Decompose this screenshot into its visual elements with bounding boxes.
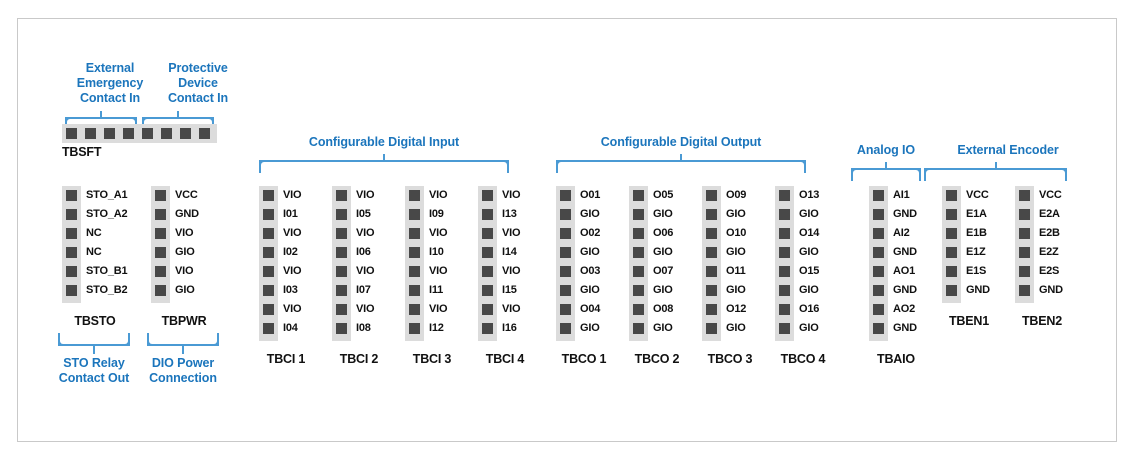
terminal-label: STO_A1 xyxy=(86,190,127,201)
terminal-pin[interactable] xyxy=(161,128,172,139)
terminal-label: I13 xyxy=(502,209,517,220)
terminal-pin[interactable] xyxy=(1019,190,1030,201)
terminal-pin[interactable] xyxy=(409,285,420,296)
terminal-pin[interactable] xyxy=(633,266,644,277)
terminal-label: E1Z xyxy=(966,247,986,258)
terminal-pin[interactable] xyxy=(560,323,571,334)
terminal-pin[interactable] xyxy=(66,228,77,239)
terminal-pin[interactable] xyxy=(336,247,347,258)
terminal-label: E2A xyxy=(1039,209,1060,220)
terminal-pin[interactable] xyxy=(1019,228,1030,239)
terminal-label: GIO xyxy=(653,247,673,258)
terminal-pin[interactable] xyxy=(155,209,166,220)
terminal-pin[interactable] xyxy=(263,190,274,201)
terminal-pin[interactable] xyxy=(336,228,347,239)
terminal-label: GIO xyxy=(175,247,195,258)
caption-configurable-digital-input: Configurable Digital Input xyxy=(239,135,529,150)
terminal-label: O14 xyxy=(799,228,819,239)
terminal-label: AO2 xyxy=(893,304,915,315)
terminal-pin[interactable] xyxy=(946,228,957,239)
terminal-label: GIO xyxy=(799,323,819,334)
terminal-label: E2S xyxy=(1039,266,1059,277)
terminal-pin[interactable] xyxy=(873,190,884,201)
terminal-pin[interactable] xyxy=(633,190,644,201)
terminal-pin[interactable] xyxy=(873,228,884,239)
terminal-label: O09 xyxy=(726,190,746,201)
terminal-label: VIO xyxy=(283,190,301,201)
terminal-label: GND xyxy=(893,285,917,296)
terminal-pin[interactable] xyxy=(560,209,571,220)
terminal-label: I07 xyxy=(356,285,371,296)
terminal-pin[interactable] xyxy=(66,285,77,296)
terminal-label: O05 xyxy=(653,190,673,201)
terminal-label: E1B xyxy=(966,228,987,239)
terminal-pin[interactable] xyxy=(946,247,957,258)
terminal-label: VIO xyxy=(429,228,447,239)
block-name-tbci-2: TBCI 2 xyxy=(319,352,399,366)
terminal-pin[interactable] xyxy=(263,304,274,315)
terminal-pin[interactable] xyxy=(946,190,957,201)
terminal-pin[interactable] xyxy=(560,228,571,239)
terminal-label: I03 xyxy=(283,285,298,296)
terminal-pin[interactable] xyxy=(66,128,77,139)
terminal-label: I09 xyxy=(429,209,444,220)
terminal-pin[interactable] xyxy=(85,128,96,139)
terminal-pin[interactable] xyxy=(560,190,571,201)
terminal-pin[interactable] xyxy=(263,266,274,277)
terminal-pin[interactable] xyxy=(779,266,790,277)
terminal-label: E1S xyxy=(966,266,986,277)
terminal-pin[interactable] xyxy=(409,209,420,220)
terminal-pin[interactable] xyxy=(1019,285,1030,296)
terminal-label: GIO xyxy=(580,285,600,296)
terminal-pin[interactable] xyxy=(633,304,644,315)
terminal-pin[interactable] xyxy=(560,285,571,296)
terminal-label: GIO xyxy=(799,285,819,296)
terminal-pin[interactable] xyxy=(409,304,420,315)
terminal-pin[interactable] xyxy=(946,285,957,296)
terminal-label: VCC xyxy=(1039,190,1062,201)
terminal-label: I16 xyxy=(502,323,517,334)
terminal-label: O12 xyxy=(726,304,746,315)
terminal-pin[interactable] xyxy=(155,247,166,258)
terminal-pin[interactable] xyxy=(155,266,166,277)
terminal-pin[interactable] xyxy=(482,285,493,296)
caption-external-encoder: External Encoder xyxy=(923,143,1093,158)
terminal-label: NC xyxy=(86,228,102,239)
terminal-label: I12 xyxy=(429,323,444,334)
terminal-label: GND xyxy=(1039,285,1063,296)
block-name-tbci-4: TBCI 4 xyxy=(465,352,545,366)
block-name-tbco-2: TBCO 2 xyxy=(615,352,699,366)
diagram-root: ExternalEmergencyContact In ProtectiveDe… xyxy=(0,0,1134,464)
terminal-pin[interactable] xyxy=(123,128,134,139)
terminal-pin[interactable] xyxy=(706,228,717,239)
terminal-pin[interactable] xyxy=(873,266,884,277)
terminal-label: O15 xyxy=(799,266,819,277)
terminal-pin[interactable] xyxy=(199,128,210,139)
block-name-tbci-3: TBCI 3 xyxy=(392,352,472,366)
terminal-pin[interactable] xyxy=(263,285,274,296)
terminal-pin[interactable] xyxy=(263,228,274,239)
terminal-pin[interactable] xyxy=(633,228,644,239)
terminal-label: VIO xyxy=(429,266,447,277)
terminal-label: GIO xyxy=(726,323,746,334)
terminal-label: VIO xyxy=(502,228,520,239)
terminal-pin[interactable] xyxy=(409,228,420,239)
terminal-pin[interactable] xyxy=(409,323,420,334)
terminal-pin[interactable] xyxy=(633,323,644,334)
terminal-label: GND xyxy=(893,209,917,220)
terminal-pin[interactable] xyxy=(779,228,790,239)
terminal-label: VIO xyxy=(283,228,301,239)
terminal-pin[interactable] xyxy=(1019,209,1030,220)
caption-analog-io: Analog IO xyxy=(836,143,936,158)
terminal-label: GIO xyxy=(653,209,673,220)
terminal-pin[interactable] xyxy=(482,209,493,220)
terminal-pin[interactable] xyxy=(706,304,717,315)
terminal-pin[interactable] xyxy=(66,247,77,258)
terminal-label: VIO xyxy=(283,266,301,277)
terminal-pin[interactable] xyxy=(779,247,790,258)
terminal-pin[interactable] xyxy=(873,247,884,258)
terminal-pin[interactable] xyxy=(633,285,644,296)
terminal-label: STO_B2 xyxy=(86,285,127,296)
terminal-pin[interactable] xyxy=(946,209,957,220)
terminal-label: VIO xyxy=(356,190,374,201)
terminal-label: E2Z xyxy=(1039,247,1059,258)
terminal-label: I14 xyxy=(502,247,517,258)
caption-protective-device-contact-in: ProtectiveDeviceContact In xyxy=(153,61,243,106)
terminal-pin[interactable] xyxy=(706,285,717,296)
caption-sto-relay-contact-out: STO RelayContact Out xyxy=(48,356,140,386)
terminal-label: GIO xyxy=(726,247,746,258)
terminal-pin[interactable] xyxy=(336,266,347,277)
terminal-pin[interactable] xyxy=(706,323,717,334)
block-name-tbco-4: TBCO 4 xyxy=(761,352,845,366)
terminal-pin[interactable] xyxy=(560,304,571,315)
terminal-pin[interactable] xyxy=(263,209,274,220)
terminal-label: I08 xyxy=(356,323,371,334)
terminal-label: O11 xyxy=(726,266,746,277)
terminal-label: GIO xyxy=(799,209,819,220)
terminal-pin[interactable] xyxy=(336,323,347,334)
diagram-panel: ExternalEmergencyContact In ProtectiveDe… xyxy=(17,18,1117,442)
terminal-pin[interactable] xyxy=(336,209,347,220)
terminal-pin[interactable] xyxy=(560,247,571,258)
terminal-pin[interactable] xyxy=(779,285,790,296)
terminal-label: GND xyxy=(893,323,917,334)
terminal-label: O03 xyxy=(580,266,600,277)
terminal-label: VIO xyxy=(502,304,520,315)
terminal-label: GIO xyxy=(653,323,673,334)
terminal-pin[interactable] xyxy=(336,190,347,201)
terminal-label: O16 xyxy=(799,304,819,315)
terminal-pin[interactable] xyxy=(873,304,884,315)
terminal-label: I05 xyxy=(356,209,371,220)
terminal-label: GIO xyxy=(580,247,600,258)
terminal-pin[interactable] xyxy=(263,323,274,334)
terminal-label: GIO xyxy=(175,285,195,296)
terminal-pin[interactable] xyxy=(873,323,884,334)
terminal-label: AO1 xyxy=(893,266,915,277)
caption-configurable-digital-output: Configurable Digital Output xyxy=(536,135,826,150)
terminal-pin[interactable] xyxy=(633,209,644,220)
terminal-label: NC xyxy=(86,247,102,258)
terminal-label: VIO xyxy=(175,266,193,277)
terminal-pin[interactable] xyxy=(873,285,884,296)
terminal-pin[interactable] xyxy=(336,285,347,296)
terminal-pin[interactable] xyxy=(706,247,717,258)
caption-dio-power-connection: DIO PowerConnection xyxy=(137,356,229,386)
terminal-label: O06 xyxy=(653,228,673,239)
terminal-pin[interactable] xyxy=(946,266,957,277)
terminal-pin[interactable] xyxy=(180,128,191,139)
terminal-pin[interactable] xyxy=(779,304,790,315)
terminal-pin[interactable] xyxy=(482,190,493,201)
terminal-label: GIO xyxy=(580,323,600,334)
terminal-label: VCC xyxy=(175,190,198,201)
terminal-label: O08 xyxy=(653,304,673,315)
terminal-label: VIO xyxy=(356,228,374,239)
terminal-pin[interactable] xyxy=(560,266,571,277)
terminal-pin[interactable] xyxy=(482,228,493,239)
terminal-label: O04 xyxy=(580,304,600,315)
terminal-label: AI2 xyxy=(893,228,910,239)
terminal-label: E2B xyxy=(1039,228,1060,239)
terminal-pin[interactable] xyxy=(409,266,420,277)
terminal-label: VIO xyxy=(356,304,374,315)
terminal-label: VIO xyxy=(429,190,447,201)
terminal-label: GND xyxy=(893,247,917,258)
terminal-label: VCC xyxy=(966,190,989,201)
terminal-pin[interactable] xyxy=(482,323,493,334)
terminal-label: STO_A2 xyxy=(86,209,127,220)
block-name-tbaio: TBAIO xyxy=(856,352,936,366)
terminal-label: GND xyxy=(175,209,199,220)
terminal-label: VIO xyxy=(356,266,374,277)
terminal-block-tbsft[interactable] xyxy=(62,124,217,143)
terminal-label: O10 xyxy=(726,228,746,239)
terminal-pin[interactable] xyxy=(336,304,347,315)
terminal-label: GIO xyxy=(726,209,746,220)
terminal-label: I11 xyxy=(429,285,443,296)
terminal-pin[interactable] xyxy=(706,190,717,201)
terminal-label: I10 xyxy=(429,247,444,258)
block-name-tbpwr: TBPWR xyxy=(139,314,229,328)
block-name-tben1: TBEN1 xyxy=(929,314,1009,328)
terminal-pin[interactable] xyxy=(779,209,790,220)
terminal-label: O07 xyxy=(653,266,673,277)
terminal-pin[interactable] xyxy=(409,190,420,201)
terminal-label: I15 xyxy=(502,285,517,296)
terminal-label: O02 xyxy=(580,228,600,239)
terminal-label: E1A xyxy=(966,209,987,220)
terminal-pin[interactable] xyxy=(155,285,166,296)
terminal-pin[interactable] xyxy=(482,266,493,277)
bracket-sto-relay xyxy=(58,333,130,354)
bracket-dio-power xyxy=(147,333,219,354)
terminal-pin[interactable] xyxy=(155,190,166,201)
terminal-label: GIO xyxy=(653,285,673,296)
block-name-tben2: TBEN2 xyxy=(1002,314,1082,328)
terminal-pin[interactable] xyxy=(633,247,644,258)
terminal-pin[interactable] xyxy=(873,209,884,220)
terminal-label: I01 xyxy=(283,209,298,220)
caption-external-emergency-contact-in: ExternalEmergencyContact In xyxy=(65,61,155,106)
terminal-label: VIO xyxy=(502,190,520,201)
terminal-label: O01 xyxy=(580,190,600,201)
terminal-label: VIO xyxy=(502,266,520,277)
terminal-pin[interactable] xyxy=(263,247,274,258)
terminal-label: O13 xyxy=(799,190,819,201)
terminal-pin[interactable] xyxy=(104,128,115,139)
block-name-tbci-1: TBCI 1 xyxy=(246,352,326,366)
terminal-pin[interactable] xyxy=(706,266,717,277)
terminal-pin[interactable] xyxy=(66,209,77,220)
block-name-tbco-3: TBCO 3 xyxy=(688,352,772,366)
terminal-pin[interactable] xyxy=(66,190,77,201)
terminal-label: GIO xyxy=(799,247,819,258)
terminal-pin[interactable] xyxy=(779,323,790,334)
terminal-label: VIO xyxy=(175,228,193,239)
terminal-pin[interactable] xyxy=(1019,266,1030,277)
terminal-label: I06 xyxy=(356,247,371,258)
block-name-tbco-1: TBCO 1 xyxy=(542,352,626,366)
terminal-label: VIO xyxy=(283,304,301,315)
terminal-label: I04 xyxy=(283,323,298,334)
terminal-pin[interactable] xyxy=(706,209,717,220)
terminal-pin[interactable] xyxy=(409,247,420,258)
terminal-label: STO_B1 xyxy=(86,266,127,277)
terminal-label: AI1 xyxy=(893,190,910,201)
terminal-label: GND xyxy=(966,285,990,296)
terminal-pin[interactable] xyxy=(142,128,153,139)
terminal-pin[interactable] xyxy=(66,266,77,277)
terminal-pin[interactable] xyxy=(155,228,166,239)
terminal-label: GIO xyxy=(726,285,746,296)
terminal-label: I02 xyxy=(283,247,298,258)
terminal-pin[interactable] xyxy=(482,247,493,258)
terminal-pin[interactable] xyxy=(1019,247,1030,258)
terminal-label: VIO xyxy=(429,304,447,315)
terminal-pin[interactable] xyxy=(482,304,493,315)
terminal-label: GIO xyxy=(580,209,600,220)
terminal-pin[interactable] xyxy=(779,190,790,201)
block-name-tbsft: TBSFT xyxy=(62,145,122,159)
block-name-tbsto: TBSTO xyxy=(50,314,140,328)
